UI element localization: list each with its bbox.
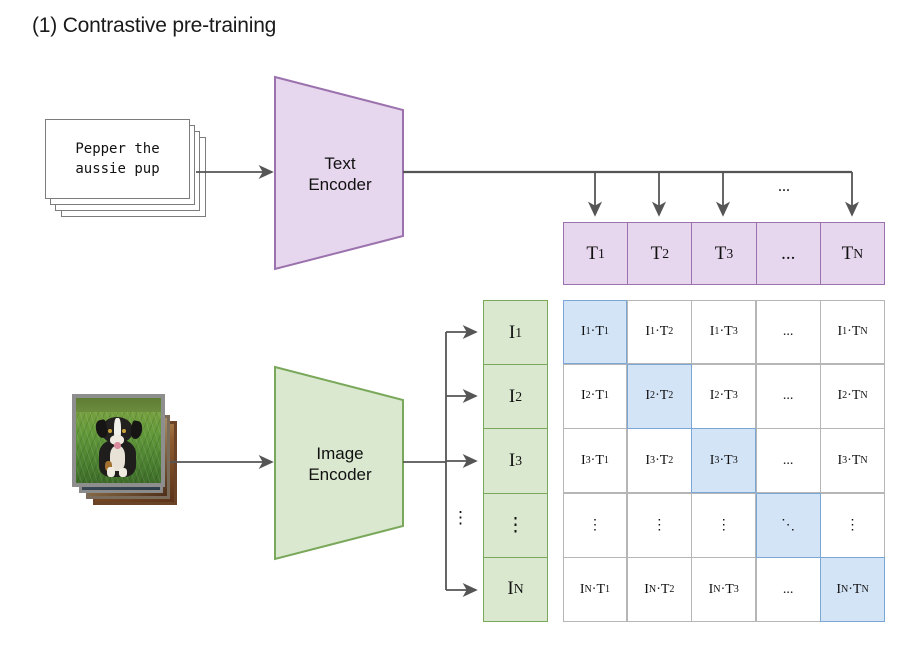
image-encoder-label-line2: Encoder bbox=[275, 464, 405, 485]
diagram-canvas: (1) Contrastive pre-training Pepper the … bbox=[0, 0, 906, 654]
similarity-cell: I2·T1 bbox=[563, 364, 628, 429]
similarity-cell: IN·T2 bbox=[627, 557, 692, 622]
text-encoder-label-line2: Encoder bbox=[275, 174, 405, 195]
similarity-cell: I3·T2 bbox=[627, 428, 692, 493]
image-encoder-block[interactable]: Image Encoder bbox=[275, 367, 405, 559]
text-embedding-cell: T3 bbox=[691, 222, 756, 285]
text-embedding-cell: T1 bbox=[563, 222, 628, 285]
image-embedding-cell: ⋮ bbox=[483, 493, 548, 558]
similarity-cell: ... bbox=[756, 557, 821, 622]
similarity-cell: ⋮ bbox=[691, 493, 756, 558]
text-encoder-block[interactable]: Text Encoder bbox=[275, 77, 405, 269]
text-encoder-label-line1: Text bbox=[275, 153, 405, 174]
similarity-cell: ⋮ bbox=[627, 493, 692, 558]
text-caption: Pepper the aussie pup bbox=[45, 119, 190, 199]
similarity-cell: I1·T1 bbox=[563, 300, 628, 365]
similarity-cell: ... bbox=[756, 428, 821, 493]
text-embedding-row: T1T2T3...TN bbox=[563, 222, 885, 285]
bus-ellipsis: ... bbox=[778, 178, 790, 196]
similarity-cell: I3·TN bbox=[820, 428, 885, 493]
image-embedding-cell: I2 bbox=[483, 364, 548, 429]
similarity-cell: I3·T1 bbox=[563, 428, 628, 493]
similarity-cell: I2·TN bbox=[820, 364, 885, 429]
wire-image-encoder-to-bus bbox=[403, 332, 476, 590]
similarity-cell: I3·T3 bbox=[691, 428, 756, 493]
similarity-cell: ⋮ bbox=[563, 493, 628, 558]
text-embedding-cell: ... bbox=[756, 222, 821, 285]
similarity-cell: I2·T2 bbox=[627, 364, 692, 429]
similarity-cell: IN·TN bbox=[820, 557, 885, 622]
image-embedding-column: I1I2I3⋮IN bbox=[483, 300, 548, 622]
image-embedding-cell: I3 bbox=[483, 428, 548, 493]
similarity-cell: ... bbox=[756, 364, 821, 429]
text-embedding-cell: TN bbox=[820, 222, 885, 285]
image-embedding-cell: IN bbox=[483, 557, 548, 622]
text-embedding-cell: T2 bbox=[627, 222, 692, 285]
similarity-cell: ... bbox=[756, 300, 821, 365]
similarity-cell: IN·T1 bbox=[563, 557, 628, 622]
image-embedding-cell: I1 bbox=[483, 300, 548, 365]
figure-title: (1) Contrastive pre-training bbox=[32, 14, 276, 38]
similarity-cell: I1·TN bbox=[820, 300, 885, 365]
similarity-cell: IN·T3 bbox=[691, 557, 756, 622]
image-encoder-label-line1: Image bbox=[275, 443, 405, 464]
similarity-cell: I2·T3 bbox=[691, 364, 756, 429]
similarity-cell: I1·T3 bbox=[691, 300, 756, 365]
image-bus-ellipsis: ⋮ bbox=[452, 508, 469, 528]
puppy-photo bbox=[72, 394, 165, 487]
similarity-matrix: I1·T1I1·T2I1·T3...I1·TNI2·T1I2·T2I2·T3..… bbox=[563, 300, 885, 622]
similarity-cell: ⋱ bbox=[756, 493, 821, 558]
similarity-cell: ⋮ bbox=[820, 493, 885, 558]
puppy-illustration bbox=[98, 417, 139, 477]
similarity-cell: I1·T2 bbox=[627, 300, 692, 365]
